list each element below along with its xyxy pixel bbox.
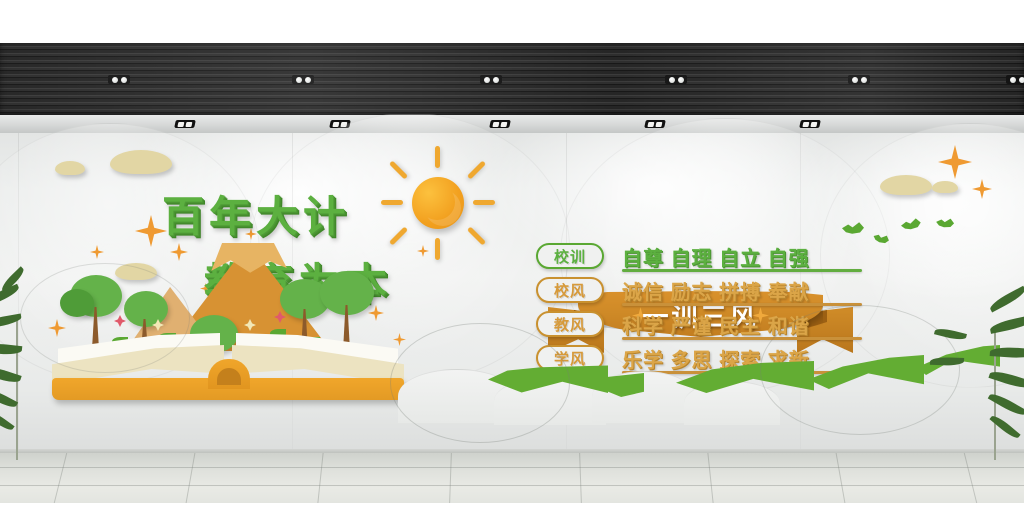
motto-underline [622, 303, 862, 306]
thin-swoosh-line [760, 305, 960, 435]
cloud-shape [932, 181, 958, 193]
motto-label-pill: 教风 [536, 311, 604, 337]
cloud-shape [110, 150, 172, 174]
ceiling-spotlight [665, 75, 687, 84]
feature-wall: 百年大计 教育为本 [0, 133, 1024, 453]
motto-label-pill: 校风 [536, 277, 604, 303]
motto-underline [622, 269, 862, 272]
potted-plant-left [0, 290, 34, 460]
ceiling-spotlight [292, 75, 314, 84]
cloud-shape [880, 175, 932, 195]
tiled-floor [0, 453, 1024, 503]
potted-plant-right [972, 300, 1024, 460]
ceiling-spotlight [480, 75, 502, 84]
wall-title-line-1: 百年大计 [162, 183, 452, 244]
ceiling-spotlight [108, 75, 130, 84]
ceiling-spotlight [1006, 75, 1024, 84]
soffit-downlight [174, 120, 196, 128]
ceiling-spotlight [848, 75, 870, 84]
motto-label-pill: 校训 [536, 243, 604, 269]
screenshot-root: 百年大计 教育为本 [0, 0, 1024, 525]
cloud-shape [55, 161, 85, 175]
thin-swoosh-line [20, 263, 190, 373]
ceiling-slat-panel [0, 43, 1024, 115]
soffit-downlight [799, 120, 821, 128]
book-spine [208, 359, 250, 389]
soffit-downlight [644, 120, 666, 128]
motto-text: 自尊 自理 自立 自强 [622, 242, 810, 271]
thin-swoosh-line [390, 323, 570, 443]
motto-text: 诚信 励志 拼搏 奉献 [622, 276, 810, 305]
soffit-downlight [489, 120, 511, 128]
motto-row-xiaofeng: 校风 诚信 励志 拼搏 奉献 [536, 276, 866, 306]
motto-row-xiaoxun: 校训 自尊 自理 自立 自强 [536, 242, 866, 272]
